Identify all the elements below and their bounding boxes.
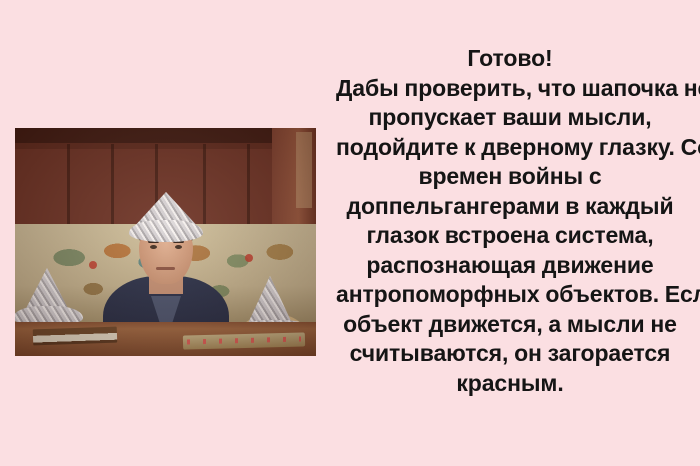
photo-scene — [15, 128, 316, 356]
caption-line: антропоморфных объектов. Если — [336, 280, 684, 310]
wall-rail-lower — [15, 143, 316, 149]
caption-line: глазок встроена система, — [336, 221, 684, 251]
door-light-gap — [296, 132, 312, 208]
tinfoil-hat-brim — [129, 220, 203, 242]
caption-line: подойдите к дверному глазку. Со — [336, 133, 684, 163]
caption-line: считываются, он загорается — [336, 339, 684, 369]
caption-line: Готово! — [336, 44, 684, 74]
scene-photo — [15, 128, 316, 356]
caption-line: доппельгангерами в каждый — [336, 192, 684, 222]
caption-line: пропускает ваши мысли, — [336, 103, 684, 133]
book-prop — [33, 327, 118, 346]
caption-line: распознающая движение — [336, 251, 684, 281]
caption-line: красным. — [336, 369, 684, 399]
caption-line: Дабы проверить, что шапочка не — [336, 74, 684, 104]
man-mouth — [156, 267, 175, 270]
man-eye-right — [175, 245, 182, 249]
caption-line: времен войны с — [336, 162, 684, 192]
couch-flower-accent — [89, 261, 97, 269]
man-eye-left — [150, 245, 157, 249]
caption-text-block: Готово! Дабы проверить, что шапочка не п… — [336, 44, 684, 398]
caption-line: объект движется, а мысли не — [336, 310, 684, 340]
meme-card: Готово! Дабы проверить, что шапочка не п… — [0, 0, 700, 466]
couch-flower-accent — [245, 254, 253, 262]
